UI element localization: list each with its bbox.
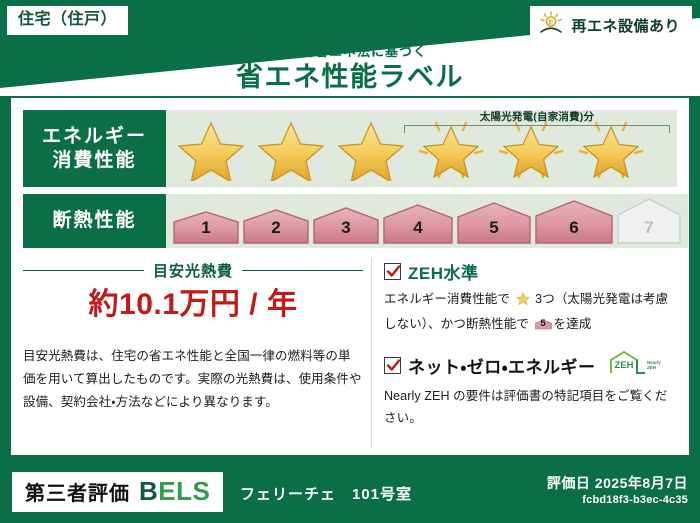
insulation-level-number: 7: [616, 218, 682, 238]
third-party-eval-label: 第三者評価: [25, 477, 130, 506]
renewable-equipment-badge: E 再エネ設備あり: [530, 6, 692, 45]
insulation-performance-row: 断熱性能: [23, 194, 677, 248]
zeh-body-post: を達成: [554, 317, 592, 331]
energy-performance-label: 住宅（住戸） E 再エネ設備あり 建築物省エネ法に基づく 省エネ性能ラベル: [0, 0, 700, 523]
zeh-nearly-logo-icon: ZEH Nearly ZEH: [607, 350, 661, 381]
energy-star-rating: [166, 110, 677, 187]
criterion-zeh-standard: ZEH水準 エネルギー消費性能で 3つ（太陽光発電は考慮しない）、かつ断熱性能で: [384, 259, 677, 335]
category-tag: 住宅（住戸）: [7, 6, 128, 35]
insulation-level-number: 3: [312, 218, 380, 238]
star-filled-solar: [572, 117, 650, 181]
label-title-block: 建築物省エネ法に基づく 省エネ性能ラベル: [0, 44, 700, 94]
energy-label-line2: 消費性能: [52, 149, 136, 172]
star-filled: [252, 117, 330, 181]
criterion-net-zero-energy: ネット・ゼロ・エネルギー ZEH Nearly ZEH Nearly ZEH の…: [384, 350, 677, 429]
utility-cost-heading: 目安光熱費: [23, 260, 363, 281]
inline-star-icon: [515, 295, 535, 309]
zeh-body-pre: エネルギー消費性能で: [384, 292, 510, 306]
utility-cost-note: 目安光熱費は、住宅の省エネ性能と全国一律の燃料等の単価を用いて算出したものです。…: [23, 345, 363, 414]
star-filled: [172, 117, 250, 181]
label-footer: 第三者評価 BELS フェリーチェ 101号室 評価日 2025年8月7日 fc…: [0, 463, 700, 523]
lower-content: 目安光熱費 約10.1万円 / 年 目安光熱費は、住宅の省エネ性能と全国一律の燃…: [23, 258, 677, 448]
building-name: フェリーチェ 101号室: [240, 483, 412, 504]
evaluation-date-label: 評価日: [547, 475, 591, 491]
evaluation-date-value: 2025年8月7日: [595, 475, 688, 491]
insulation-performance-label: 断熱性能: [23, 194, 166, 248]
utility-cost-value: 約10.1万円 / 年: [23, 288, 363, 323]
criterion-zeh-standard-head: ZEH水準: [384, 259, 677, 284]
insulation-level-number: 1: [172, 218, 240, 238]
insulation-level-number: 2: [242, 218, 310, 238]
insulation-performance-body: 1 2 3: [166, 194, 688, 248]
star-filled: [332, 117, 410, 181]
criterion-zeh-standard-body: エネルギー消費性能で 3つ（太陽光発電は考慮しない）、かつ断熱性能で 5 を達成: [384, 289, 677, 335]
criterion-net-zero-energy-head: ネット・ゼロ・エネルギー ZEH Nearly ZEH: [384, 350, 677, 381]
criteria-section: ZEH水準 エネルギー消費性能で 3つ（太陽光発電は考慮しない）、かつ断熱性能で: [371, 258, 677, 448]
svg-text:ZEH: ZEH: [614, 360, 633, 371]
energy-performance-label: エネルギー 消費性能: [23, 110, 166, 187]
insulation-level-6: 6: [534, 199, 614, 244]
energy-performance-body: 太陽光発電(自家消費)分: [166, 110, 677, 187]
net-zero-energy-checkbox[interactable]: [384, 357, 401, 374]
bels-certification-badge: 第三者評価 BELS: [12, 472, 223, 512]
energy-performance-row: エネルギー 消費性能 太陽光発電(自家消費)分: [23, 110, 677, 187]
evaluation-id: fcbd18f3-b3ec-4c35: [582, 494, 688, 506]
criterion-zeh-standard-title: ZEH水準: [408, 259, 479, 284]
solar-sun-icon: E: [538, 11, 564, 40]
heading-rule-right: [242, 270, 363, 272]
heading-rule-left: [23, 270, 144, 272]
insulation-level-2: 2: [242, 208, 310, 244]
criterion-net-zero-energy-title: ネット・ゼロ・エネルギー: [408, 353, 596, 378]
star-filled-solar: [412, 117, 490, 181]
utility-cost-section: 目安光熱費 約10.1万円 / 年 目安光熱費は、住宅の省エネ性能と全国一律の燃…: [23, 258, 371, 448]
zeh-body-star-count: 3つ（太陽光発電: [535, 292, 630, 306]
insulation-label-text: 断熱性能: [52, 209, 136, 232]
insulation-level-1: 1: [172, 210, 240, 244]
inline-house-number: 5: [535, 316, 552, 332]
inline-house-icon: 5: [535, 317, 552, 334]
bels-logo-els: ELS: [158, 476, 210, 506]
zeh-standard-checkbox[interactable]: [384, 263, 401, 280]
insulation-level-5: 5: [456, 201, 532, 244]
utility-cost-heading-text: 目安光熱費: [153, 260, 233, 281]
bels-logo: BELS: [139, 476, 210, 507]
title-subtitle: 建築物省エネ法に基づく: [0, 44, 700, 60]
evaluation-date: 評価日 2025年8月7日: [547, 473, 688, 493]
insulation-level-scale: 1 2 3: [166, 194, 688, 248]
svg-text:ZEH: ZEH: [647, 365, 656, 370]
label-card: エネルギー 消費性能 太陽光発電(自家消費)分: [11, 98, 689, 455]
renewable-badge-label: 再エネ設備あり: [571, 15, 680, 36]
page-title: 省エネ性能ラベル: [0, 61, 700, 95]
insulation-level-number: 6: [534, 218, 614, 238]
insulation-level-3: 3: [312, 206, 380, 244]
star-filled-solar: [492, 117, 570, 181]
insulation-level-number: 4: [382, 218, 454, 238]
bels-logo-b: B: [139, 476, 158, 506]
insulation-level-number: 5: [456, 218, 532, 238]
insulation-level-4: 4: [382, 203, 454, 244]
criterion-net-zero-energy-body: Nearly ZEH の要件は評価書の特記項目をご覧ください。: [384, 386, 677, 429]
energy-label-line1: エネルギー: [42, 125, 147, 148]
svg-text:E: E: [549, 20, 554, 27]
insulation-level-7: 7: [616, 197, 682, 244]
